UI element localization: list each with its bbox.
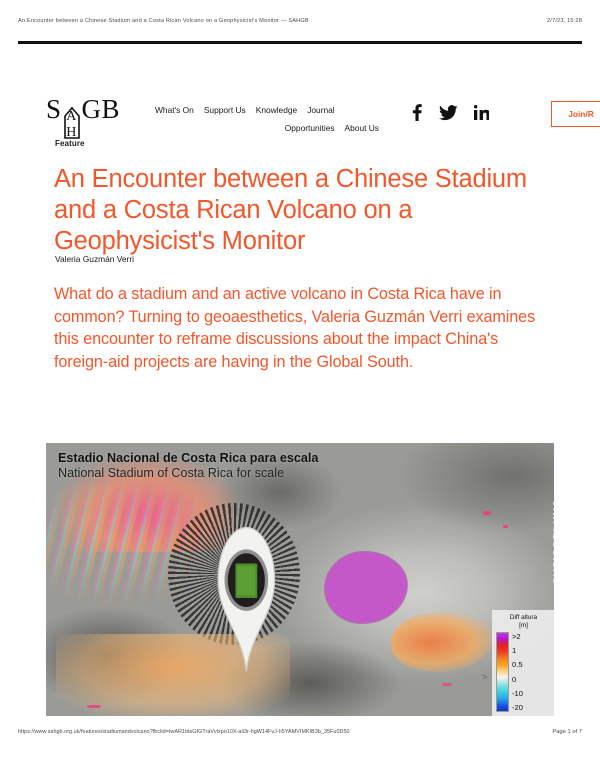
- print-header-title: An Encounter between a Chinese Stadium a…: [18, 18, 309, 24]
- nav-item-whats-on[interactable]: What's On: [155, 101, 194, 119]
- nav-item-knowledge[interactable]: Knowledge: [256, 101, 297, 119]
- linkedin-icon[interactable]: [474, 105, 489, 120]
- legend-colorbar: [496, 632, 509, 712]
- stadium-overlay: [193, 525, 300, 672]
- nav-item-about-us[interactable]: About Us: [345, 119, 379, 137]
- facebook-icon[interactable]: [410, 104, 423, 121]
- site-header: SAHGB What's On Support Us Knowledge Jou…: [0, 44, 600, 104]
- legend-body: >2 1 0.5 0 -10 -20: [496, 632, 551, 712]
- legend-tick: 1: [512, 646, 523, 655]
- nav-item-support-us[interactable]: Support Us: [204, 101, 246, 119]
- main-navigation: What's On Support Us Knowledge Journal O…: [155, 101, 385, 137]
- hero-image: Estadio Nacional de Costa Rica para esca…: [46, 443, 554, 716]
- deformation-speck: [503, 525, 508, 528]
- caption-spanish: Estadio Nacional de Costa Rica para esca…: [58, 451, 478, 466]
- legend-title-line2: [m]: [496, 622, 551, 630]
- social-links: [410, 104, 489, 121]
- logo-letter-h: H: [62, 126, 82, 140]
- legend-tick: -10: [512, 689, 523, 698]
- logo-letters-gb: GB: [82, 96, 121, 123]
- colorbar-legend: Diff altura [m] >2 1 0.5 0 -10 -20 >: [492, 610, 554, 716]
- legend-tick-labels: >2 1 0.5 0 -10 -20: [512, 632, 523, 712]
- printed-article-page: An Encounter between a Chinese Stadium a…: [0, 0, 600, 776]
- join-renew-button[interactable]: Join/R: [551, 101, 600, 127]
- legend-tick: 0: [512, 675, 523, 684]
- article-standfirst: What do a stadium and an active volcano …: [54, 283, 539, 373]
- article-kicker: Feature: [55, 139, 85, 148]
- legend-pointer-icon: >: [482, 672, 487, 682]
- twitter-icon[interactable]: [439, 105, 458, 121]
- print-header-timestamp: 2/7/23, 15:28: [547, 18, 582, 24]
- logo-letter-a: A: [62, 110, 82, 124]
- deformation-speck: [483, 511, 491, 515]
- volcano-interferogram-graphic: Estadio Nacional de Costa Rica para esca…: [46, 443, 554, 716]
- legend-tick: >2: [512, 632, 523, 641]
- footer-source-url: https://www.sahgb.org.uk/features/stadiu…: [18, 729, 350, 735]
- article-byline: Valeria Guzmán Verri: [55, 254, 134, 264]
- legend-tick: -20: [512, 703, 523, 712]
- sahgb-logo[interactable]: SAHGB: [46, 96, 120, 123]
- logo-letter-s: S: [46, 96, 62, 123]
- caption-english: National Stadium of Costa Rica for scale: [58, 466, 478, 481]
- image-caption-overlay: Estadio Nacional de Costa Rica para esca…: [58, 451, 478, 482]
- deformation-speck: [87, 705, 101, 708]
- image-credit-vertical: er – OVSICORI-UNA: [552, 499, 554, 610]
- nav-item-journal[interactable]: Journal: [307, 101, 334, 119]
- nav-item-opportunities[interactable]: Opportunities: [285, 119, 335, 137]
- print-header: An Encounter between a Chinese Stadium a…: [0, 14, 600, 28]
- page-title: An Encounter between a Chinese Stadium a…: [54, 164, 554, 257]
- footer-page-number: Page 1 of 7: [552, 729, 582, 735]
- legend-title-line1: Diff altura: [496, 614, 551, 622]
- print-footer: https://www.sahgb.org.uk/features/stadiu…: [0, 723, 600, 741]
- legend-tick: 0.5: [512, 660, 523, 669]
